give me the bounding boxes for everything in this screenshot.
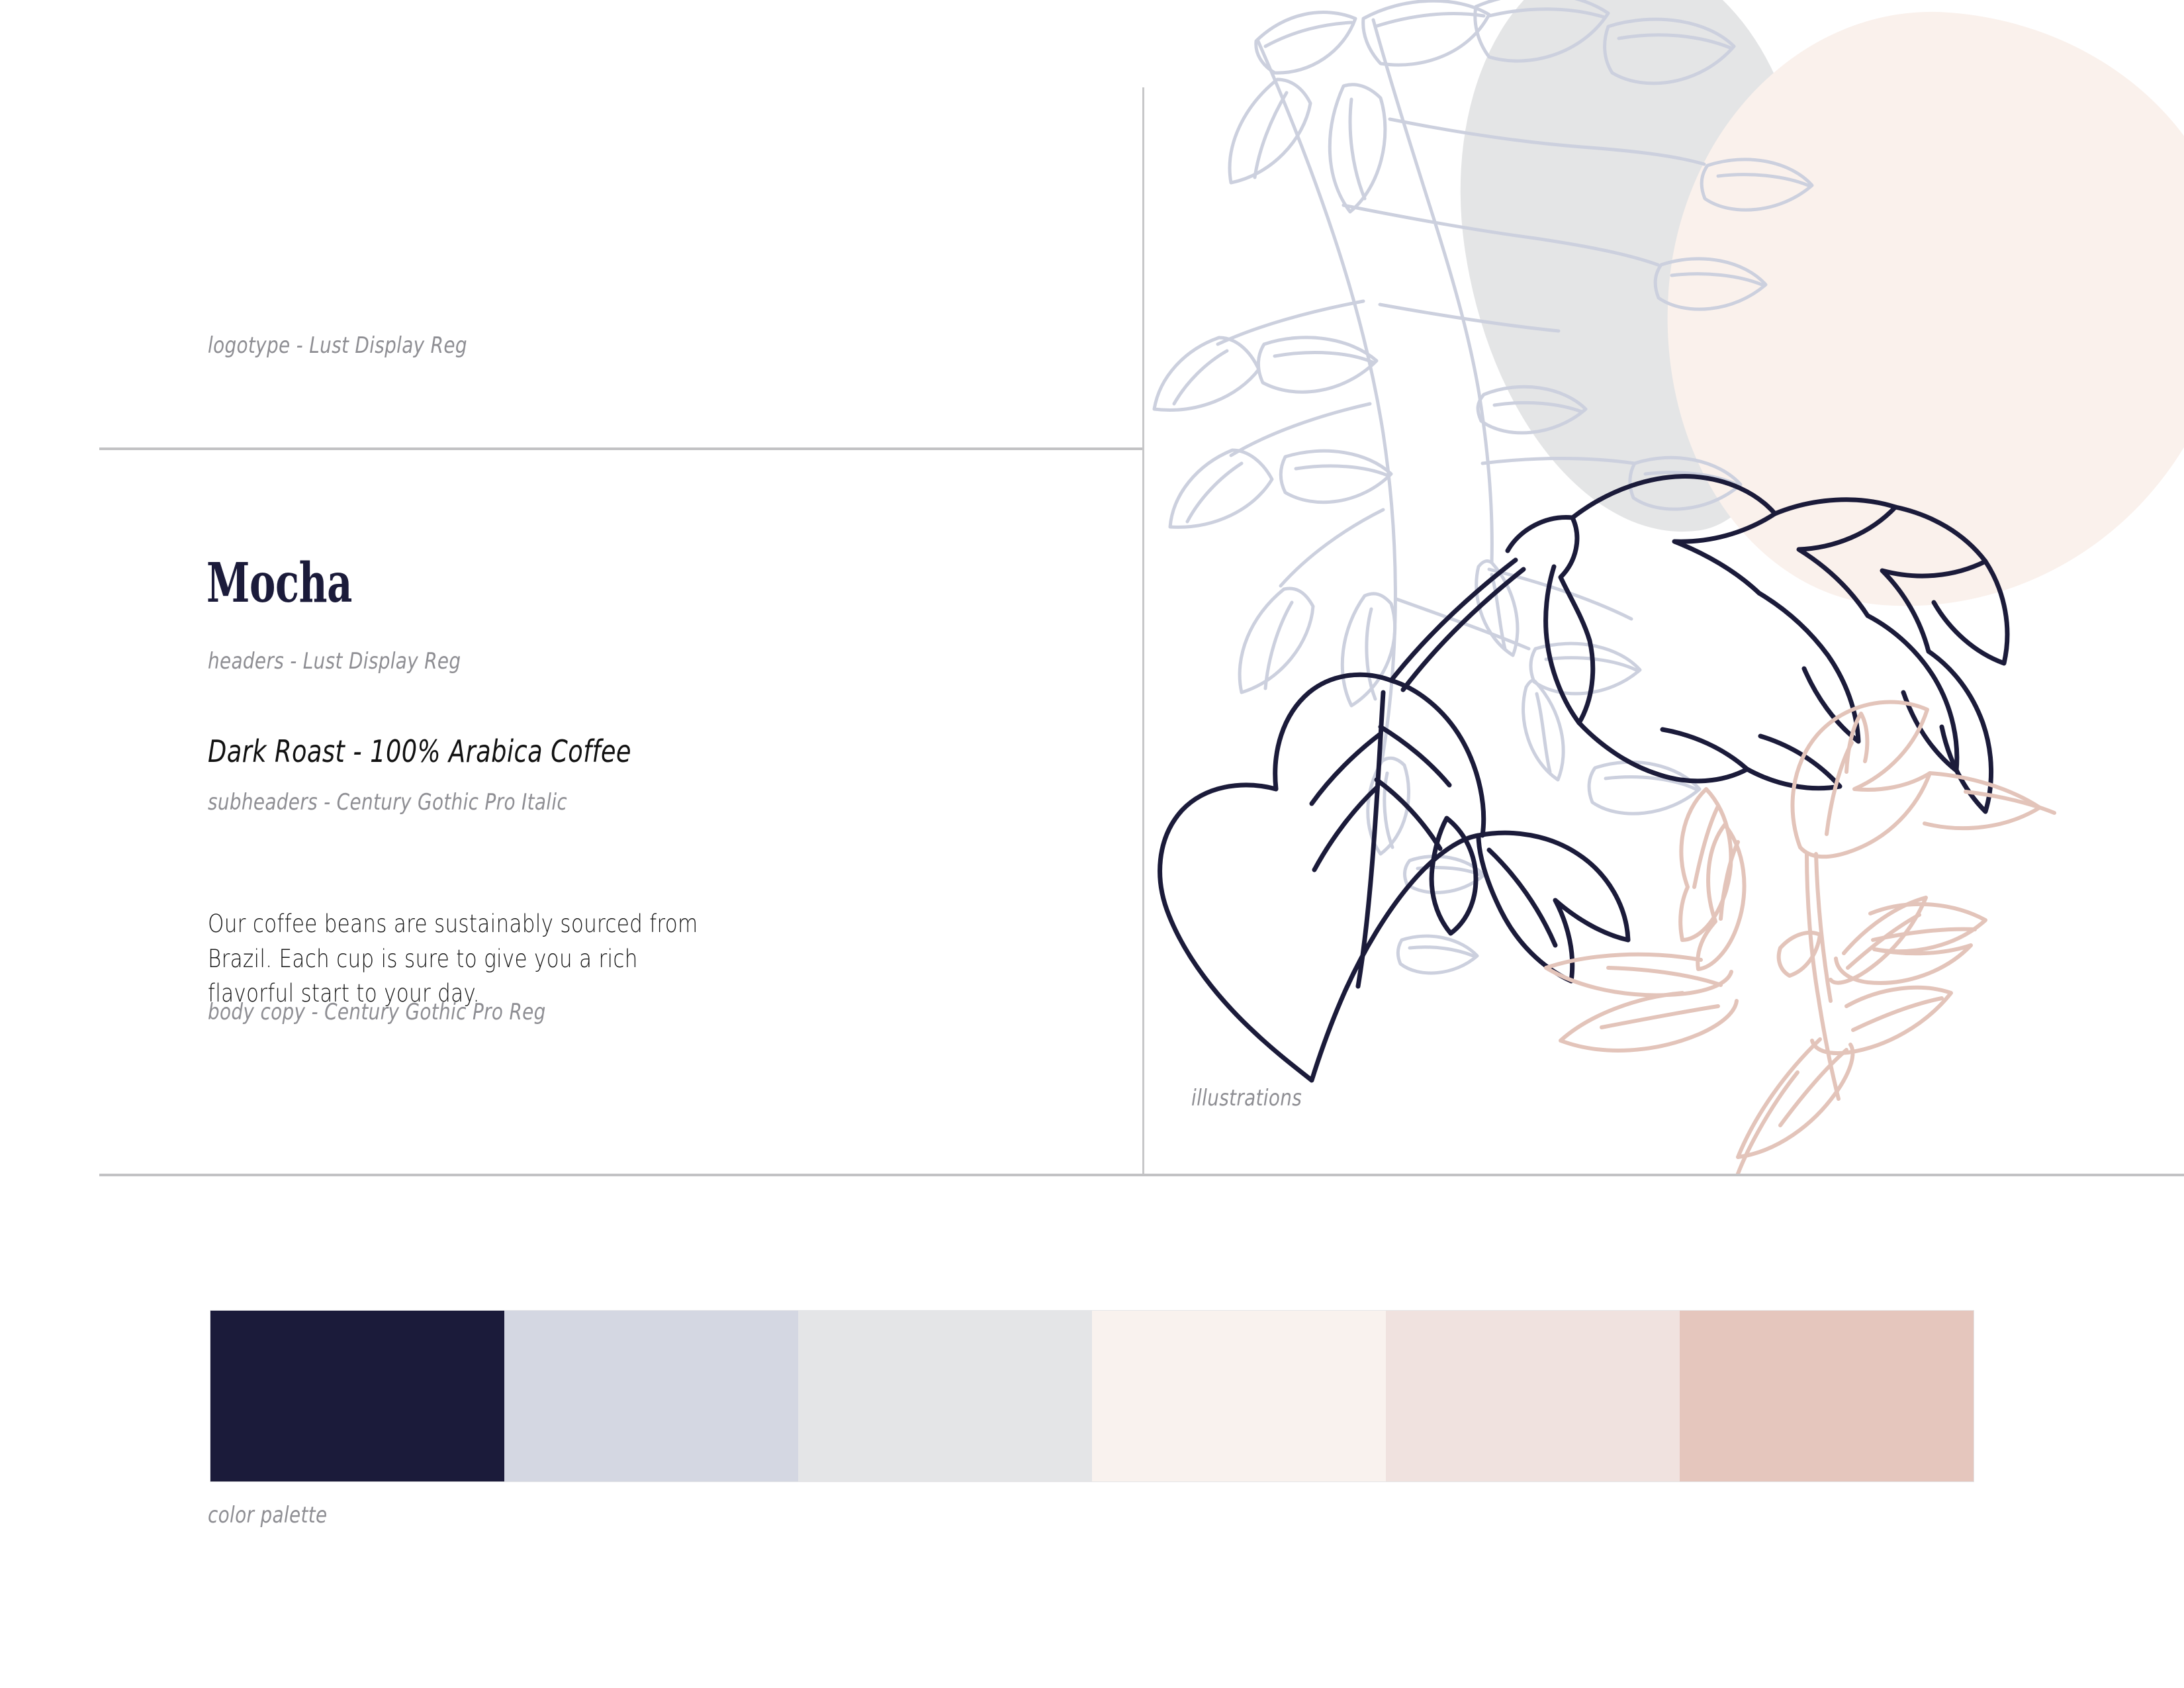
color-swatch-cream: [1092, 1311, 1386, 1481]
illustrations-panel: [1145, 0, 2184, 1174]
body-copy-caption: body copy - Century Gothic Pro Reg: [208, 1001, 546, 1023]
color-palette: [210, 1311, 1974, 1481]
color-palette-caption: color palette: [208, 1504, 327, 1526]
divider-top-horizontal: [99, 447, 1144, 450]
subheader-caption: subheaders - Century Gothic Pro Italic: [208, 791, 567, 814]
blush-botanical-illustration: [1546, 702, 2054, 1174]
color-swatch-blush-pale: [1386, 1311, 1680, 1481]
logotype-caption: logotype - Lust Display Reg: [208, 334, 467, 357]
color-swatch-blush-rose: [1680, 1311, 1974, 1481]
decorative-blob-gray: [1427, 0, 1848, 557]
subheader-specimen: Dark Roast - 100% Arabica Coffee: [208, 736, 631, 767]
monstera-illustration: [1160, 477, 2007, 1080]
header-caption: headers - Lust Display Reg: [208, 650, 461, 673]
color-swatch-navy: [210, 1311, 504, 1481]
color-swatch-periwinkle-gray: [504, 1311, 798, 1481]
header-specimen: Mocha: [206, 556, 352, 610]
illustrations-caption: illustrations: [1191, 1087, 1302, 1109]
decorative-blob-cream: [1648, 0, 2184, 628]
divider-vertical: [1142, 87, 1144, 1176]
hanging-vine-illustration: [1154, 0, 1812, 973]
color-swatch-light-gray: [798, 1311, 1092, 1481]
divider-bottom-horizontal: [99, 1174, 2184, 1176]
body-copy-specimen: Our coffee beans are sustainably sourced…: [208, 907, 708, 1011]
